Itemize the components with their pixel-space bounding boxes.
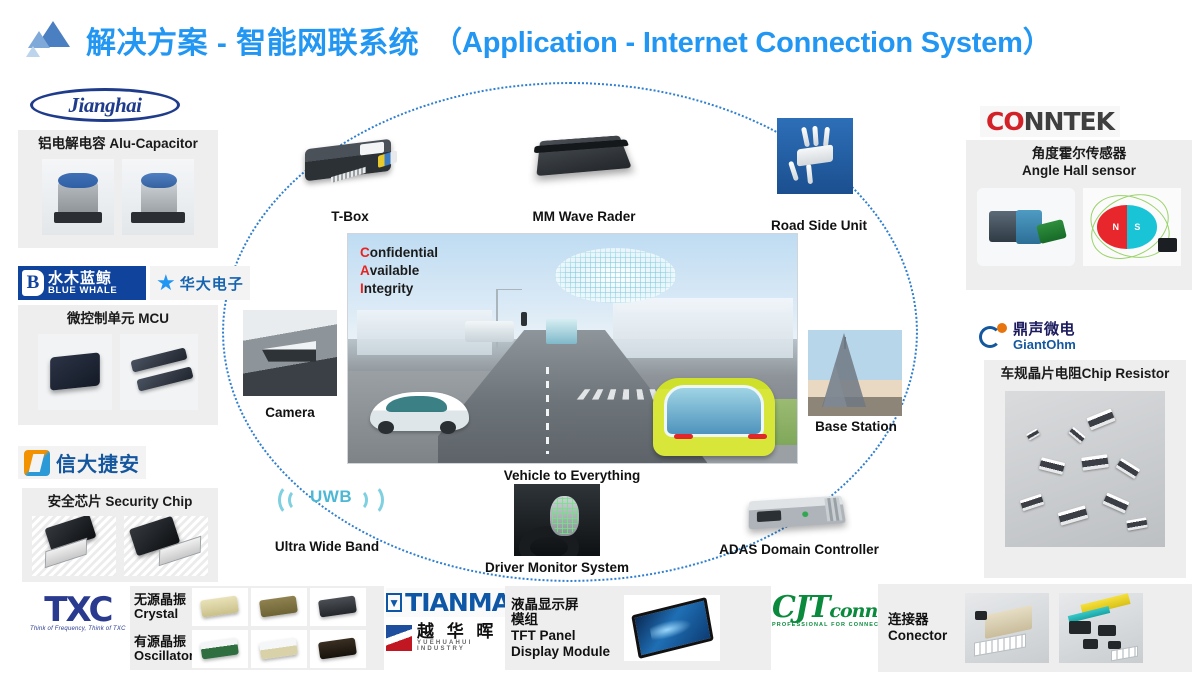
brand-tianma: ▼ TIANMA bbox=[386, 588, 510, 617]
slide-root: 解决方案 - 智能网联系统 （Application - Internet Co… bbox=[0, 0, 1200, 674]
magnet-field-diagram: NS bbox=[1083, 188, 1181, 266]
brand-conntek: CONNTEK bbox=[980, 106, 1120, 137]
brand-huada-cn: 华大电子 bbox=[180, 273, 244, 294]
yellow-pod-vehicle bbox=[653, 378, 774, 456]
giantohm-mark-icon bbox=[978, 322, 1008, 352]
tianma-mark-icon: ▼ bbox=[386, 593, 402, 612]
brand-blue-whale-cn: 水木蓝鲸 bbox=[48, 271, 117, 286]
brand-xinda-cn: 信大捷安 bbox=[56, 448, 140, 477]
crystal-photo-3 bbox=[310, 588, 366, 626]
mcu-chip-photo-2 bbox=[120, 334, 198, 410]
panel-chip-resistor-title: 车规晶片电阻Chip Resistor bbox=[984, 360, 1186, 387]
oscillator-photo-3 bbox=[310, 630, 366, 668]
connector-photo-1 bbox=[965, 593, 1049, 663]
tbox-photo bbox=[296, 126, 404, 196]
cai-overlay: Confidential Available Integrity bbox=[360, 244, 438, 299]
panel-mcu[interactable]: 微控制单元 MCU bbox=[18, 305, 218, 425]
tft-title-line-3: TFT Panel bbox=[511, 628, 610, 644]
brand-cjt-small: conn bbox=[829, 600, 877, 622]
node-label-adas-domain-controller: ADAS Domain Controller bbox=[706, 542, 892, 557]
brand-txc-tagline: Think of Frequency, Think of TXC bbox=[30, 626, 126, 632]
smart-city-photo: Confidential Available Integrity bbox=[347, 233, 798, 464]
cloud-network-mesh-icon bbox=[555, 248, 676, 303]
brand-tianma-label: TIANMA bbox=[405, 588, 510, 617]
brand-txc-label: TXC bbox=[30, 590, 126, 630]
xinda-mark-icon bbox=[24, 450, 50, 476]
connector-title-line-2: Conector bbox=[888, 628, 947, 644]
camera-photo bbox=[243, 310, 337, 396]
hall-motor-photo bbox=[977, 188, 1075, 266]
panel-hall-title-en: Angle Hall sensor bbox=[966, 163, 1192, 184]
panel-angle-hall-sensor[interactable]: 角度霍尔传感器 Angle Hall sensor NS bbox=[966, 140, 1192, 290]
tft-title-line-4: Display Module bbox=[511, 644, 610, 660]
cai-line-confidential: Confidential bbox=[360, 244, 438, 262]
node-label-base-station: Base Station bbox=[806, 419, 906, 434]
oscillator-row-cn: 有源晶振 bbox=[134, 635, 192, 649]
crystal-row-cn: 无源晶振 bbox=[134, 593, 192, 607]
panel-crystal-oscillator[interactable]: 无源晶振 Crystal 有源晶振 Oscillator bbox=[130, 586, 384, 670]
brand-yuehuahui-cn: 越 华 晖 bbox=[417, 623, 510, 640]
security-chip-photo-2 bbox=[124, 516, 208, 576]
star-icon: ★ bbox=[156, 272, 176, 294]
crystal-photo-1 bbox=[192, 588, 248, 626]
brand-giantohm-en: GiantOhm bbox=[1013, 338, 1076, 352]
brand-xinda-jiean: 信大捷安 bbox=[18, 446, 146, 479]
node-label-road-side-unit: Road Side Unit bbox=[757, 218, 881, 233]
node-label-driver-monitor-system: Driver Monitor System bbox=[479, 560, 635, 575]
tft-title-line-2: 模组 bbox=[511, 612, 610, 628]
panel-tft-display[interactable]: 液晶显示屏 模组 TFT Panel Display Module bbox=[505, 586, 771, 670]
adas-photo bbox=[742, 482, 852, 544]
blue-whale-mark-icon: B bbox=[22, 270, 44, 296]
brand-yuehuahui-en: YUEHUAHUI INDUSTRY bbox=[417, 640, 510, 652]
oscillator-photo-2 bbox=[251, 630, 307, 668]
brand-group-mcu: B 水木蓝鲸 BLUE WHALE ★ 华大电子 bbox=[18, 266, 250, 300]
tft-title-line-1: 液晶显示屏 bbox=[511, 597, 610, 613]
node-label-tbox: T-Box bbox=[300, 209, 400, 224]
brand-huada: ★ 华大电子 bbox=[150, 266, 250, 300]
security-chip-photo-1 bbox=[32, 516, 116, 576]
mcu-chip-photo-1 bbox=[38, 334, 112, 410]
panel-alu-capacitor-title: 铝电解电容 Alu-Capacitor bbox=[18, 130, 218, 157]
panel-security-chip[interactable]: 安全芯片 Security Chip bbox=[22, 488, 218, 582]
crystal-photo-2 bbox=[251, 588, 307, 626]
panel-alu-capacitor[interactable]: 铝电解电容 Alu-Capacitor bbox=[18, 130, 218, 248]
brand-cjt-main: CJT bbox=[772, 590, 829, 625]
uwb-signal-icon: UWB bbox=[276, 482, 392, 518]
base-station-photo bbox=[808, 330, 902, 416]
brand-blue-whale: B 水木蓝鲸 BLUE WHALE bbox=[18, 266, 146, 300]
brand-group-tft: ▼ TIANMA YHH 越 华 晖 YUEHUAHUI INDUSTRY bbox=[386, 588, 510, 652]
alu-capacitor-photo-1 bbox=[42, 159, 114, 235]
panel-connector[interactable]: 连接器 Conector bbox=[878, 584, 1192, 672]
rsu-photo bbox=[777, 118, 853, 194]
connector-title-line-1: 连接器 bbox=[888, 612, 947, 628]
alu-capacitor-photo-2 bbox=[122, 159, 194, 235]
uwb-badge-label: UWB bbox=[310, 487, 352, 507]
dms-photo bbox=[514, 484, 600, 556]
crystal-row-en: Crystal bbox=[134, 607, 192, 621]
brand-yuehuahui: YHH 越 华 晖 YUEHUAHUI INDUSTRY bbox=[386, 623, 510, 652]
brand-conntek-part2: NNTEK bbox=[1024, 107, 1114, 136]
brand-jianghai: Jianghai bbox=[30, 88, 180, 122]
radar-photo bbox=[528, 112, 640, 198]
node-label-vehicle-to-everything: Vehicle to Everything bbox=[472, 468, 672, 483]
connector-photo-2 bbox=[1059, 593, 1143, 663]
oscillator-row-en: Oscillator bbox=[134, 649, 192, 663]
brand-txc: TXC Think of Frequency, Think of TXC bbox=[30, 590, 134, 632]
triangle-logo-icon bbox=[26, 19, 72, 61]
panel-mcu-title: 微控制单元 MCU bbox=[18, 305, 218, 332]
brand-giantohm: 鼎声微电 GiantOhm bbox=[978, 322, 1076, 352]
cai-line-integrity: Integrity bbox=[360, 280, 438, 298]
node-label-ultra-wide-band: Ultra Wide Band bbox=[258, 539, 396, 554]
brand-giantohm-cn: 鼎声微电 bbox=[1013, 322, 1076, 338]
tft-panel-photo bbox=[624, 595, 720, 661]
title-english: （Application - Internet Connection Syste… bbox=[433, 19, 1051, 61]
node-label-mm-wave-rader: MM Wave Rader bbox=[514, 209, 654, 224]
panel-security-chip-title: 安全芯片 Security Chip bbox=[22, 488, 218, 515]
brand-blue-whale-en: BLUE WHALE bbox=[48, 286, 117, 296]
brand-jianghai-label: Jianghai bbox=[68, 93, 141, 118]
node-label-camera: Camera bbox=[244, 405, 336, 420]
title-chinese: 解决方案 - 智能网联系统 bbox=[86, 18, 419, 62]
oscillator-photo-1 bbox=[192, 630, 248, 668]
panel-hall-title-cn: 角度霍尔传感器 bbox=[966, 140, 1192, 163]
cai-line-available: Available bbox=[360, 262, 438, 280]
white-ev-car bbox=[370, 392, 469, 431]
page-title: 解决方案 - 智能网联系统 （Application - Internet Co… bbox=[26, 18, 1052, 62]
brand-conntek-part1: CO bbox=[986, 107, 1024, 136]
chip-resistor-photo bbox=[1005, 391, 1165, 547]
yuehuahui-mark-icon: YHH bbox=[386, 625, 412, 651]
panel-chip-resistor[interactable]: 车规晶片电阻Chip Resistor bbox=[984, 360, 1186, 578]
